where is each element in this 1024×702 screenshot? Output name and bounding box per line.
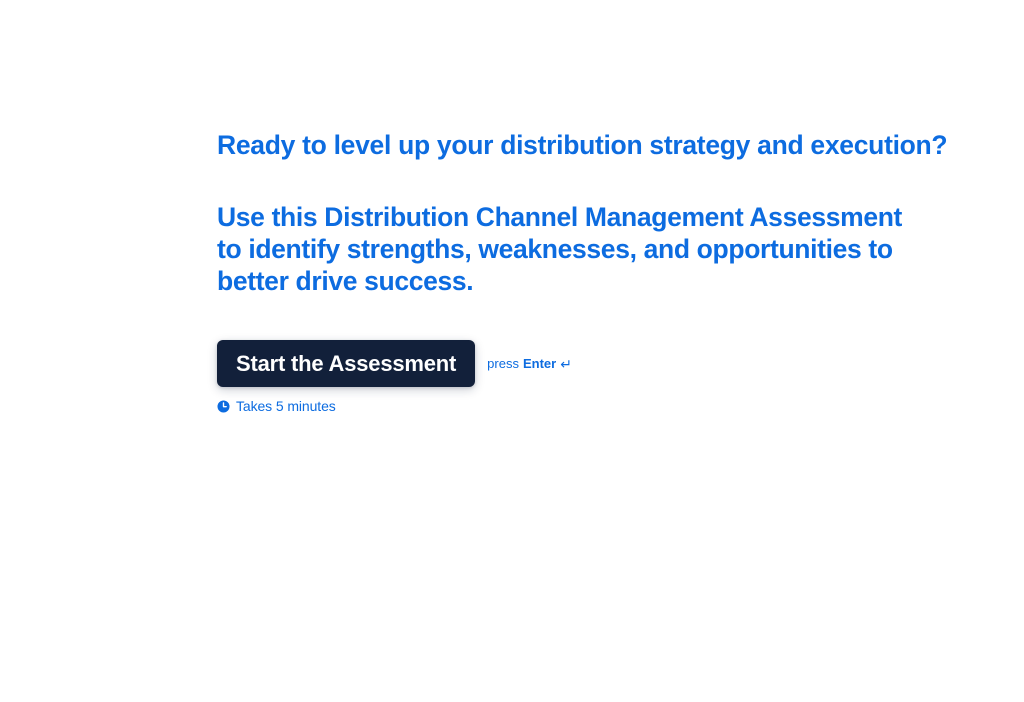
enter-key-label: Enter bbox=[523, 356, 556, 371]
press-label: press bbox=[487, 356, 519, 371]
start-assessment-button[interactable]: Start the Assessment bbox=[217, 340, 475, 387]
intro-description: Use this Distribution Channel Management… bbox=[217, 163, 917, 297]
assessment-intro-panel: Ready to level up your distribution stra… bbox=[217, 128, 917, 297]
return-arrow-icon: ↵ bbox=[560, 357, 572, 371]
duration-note: Takes 5 minutes bbox=[217, 398, 336, 414]
press-enter-hint: press Enter ↵ bbox=[487, 356, 572, 371]
cta-row: Start the Assessment press Enter ↵ bbox=[217, 340, 572, 387]
page-title: Ready to level up your distribution stra… bbox=[217, 128, 917, 163]
duration-label: Takes 5 minutes bbox=[236, 398, 336, 414]
clock-icon bbox=[217, 400, 230, 413]
